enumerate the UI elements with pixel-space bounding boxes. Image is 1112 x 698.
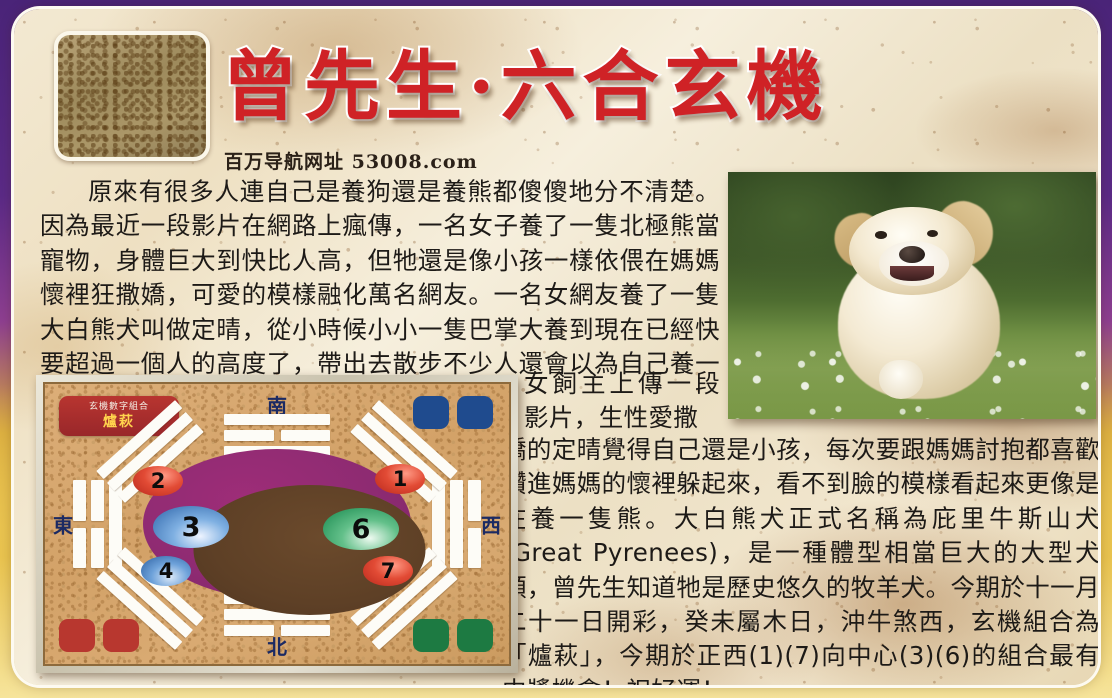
great-pyrenees-puppy-photo	[728, 172, 1096, 419]
corner-chip-green-2	[457, 619, 493, 652]
lucky-number-7: 7	[363, 556, 413, 586]
lucky-number-6: 6	[323, 508, 399, 550]
corner-chip-blue-2	[457, 396, 493, 429]
badge-label: 玄機數字組合	[89, 402, 149, 413]
puppy-paw	[879, 360, 923, 400]
trigram-zhen-east	[73, 480, 122, 568]
center-blob-brown	[193, 485, 425, 615]
corner-chip-red-2	[103, 619, 139, 652]
direction-label-west: 西	[481, 510, 501, 539]
article-paragraph-bottom: 嬌的定晴覺得自己還是小孩，每次要跟媽媽討抱都喜歡鑽進媽媽的懷裡躲起來，看不到臉的…	[502, 433, 1098, 685]
badge-value: 爐萩	[103, 414, 135, 430]
lucky-number-3: 3	[153, 506, 229, 548]
corner-chip-blue-1	[413, 396, 449, 429]
parchment-sheet: 曾先生·六合玄機 百万导航网址 53008.com 原來有很多人連自己是養狗還是…	[14, 9, 1098, 685]
bagua-board: 玄機數字組合 爐萩 南 北 東 西	[36, 375, 518, 673]
corner-chip-green-1	[413, 619, 449, 652]
lucky-number-1: 1	[375, 464, 425, 494]
corner-chip-red-1	[59, 619, 95, 652]
lucky-number-4: 4	[141, 556, 191, 586]
lucky-number-2: 2	[133, 466, 183, 496]
site-url-subtitle: 百万导航网址 53008.com	[224, 147, 478, 174]
cork-surface: 玄機數字組合 爐萩 南 北 東 西	[43, 382, 511, 666]
puppy-eye-left	[875, 231, 887, 238]
page-title: 曾先生·六合玄機	[222, 43, 828, 131]
poster-page: 曾先生·六合玄機 百万导航网址 53008.com 原來有很多人連自己是養狗還是…	[0, 0, 1112, 698]
masthead: 曾先生·六合玄機 百万导航网址 53008.com	[14, 9, 1098, 161]
texture-tile-logo	[54, 31, 210, 161]
puppy-mouth	[890, 266, 934, 281]
article-paragraph-mid: 女飼主上傳一段影片，生性愛撒	[524, 367, 720, 436]
trigram-dui-west	[432, 480, 481, 568]
direction-label-east: 東	[53, 510, 73, 539]
